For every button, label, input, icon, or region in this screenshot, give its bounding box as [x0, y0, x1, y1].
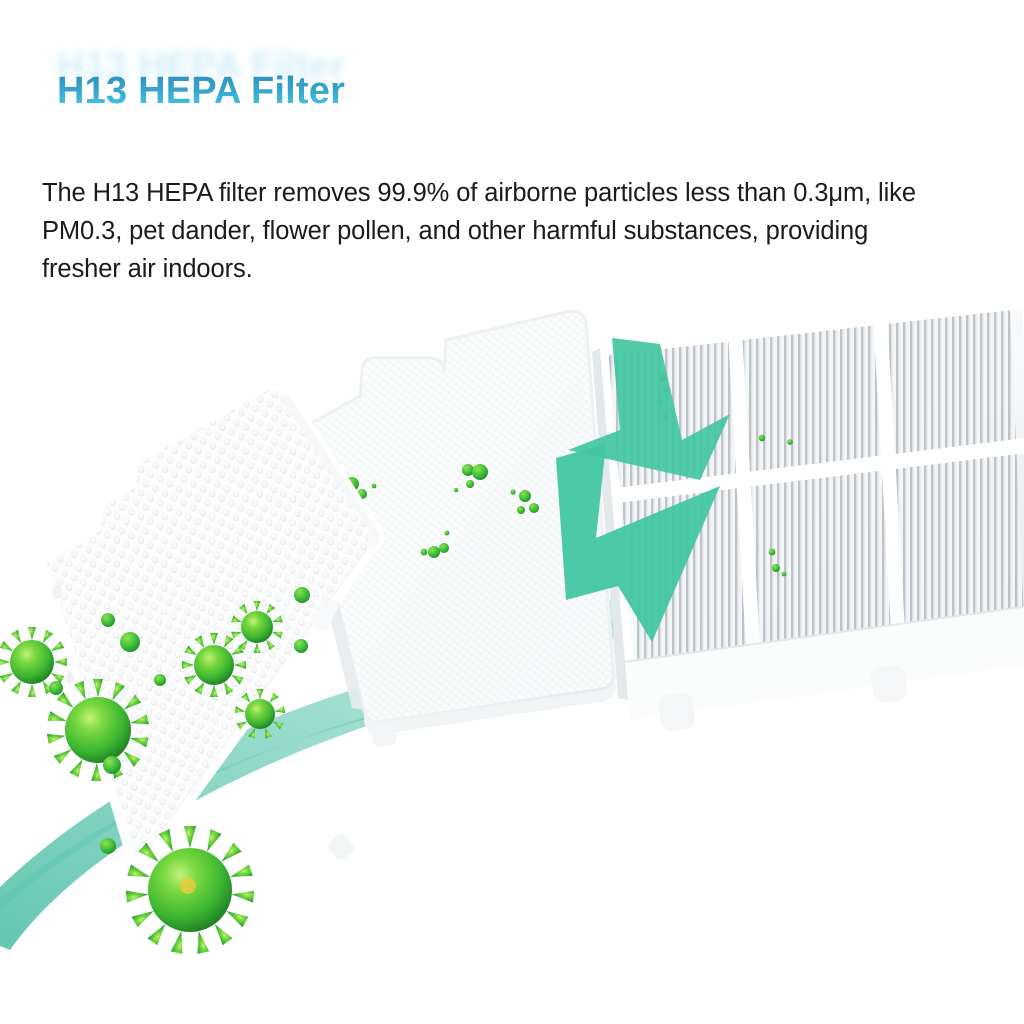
filter-illustration — [0, 290, 1024, 970]
page-title: H13 HEPA Filter — [57, 70, 345, 113]
product-feature-page: H13 HEPA Filter H13 HEPA Filter The H13 … — [0, 0, 1024, 1024]
body-description: The H13 HEPA filter removes 99.9% of air… — [42, 174, 928, 288]
filter-illustration-svg — [0, 290, 1024, 970]
virus-particle — [126, 826, 255, 954]
